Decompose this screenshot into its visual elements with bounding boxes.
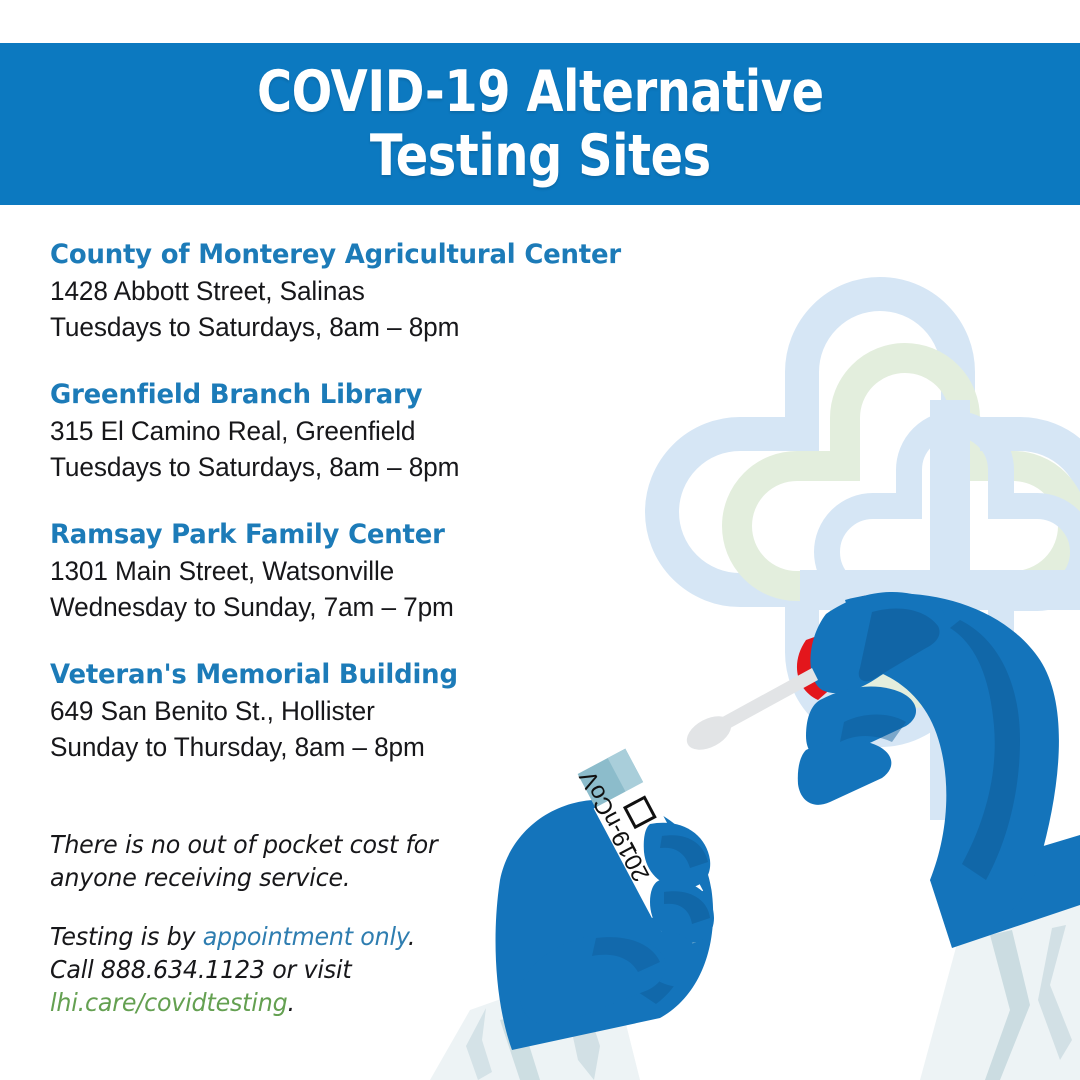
site-hours: Tuesdays to Saturdays, 8am – 8pm <box>50 309 690 345</box>
notes-section: There is no out of pocket cost for anyon… <box>50 828 570 1019</box>
site-address: 649 San Benito St., Hollister <box>50 693 690 729</box>
site-name: Ramsay Park Family Center <box>50 516 684 553</box>
list-item: Veteran's Memorial Building 649 San Beni… <box>50 656 710 765</box>
header-banner: COVID-19 Alternative Testing Sites <box>0 43 1080 205</box>
right-gloved-hand <box>681 592 1059 944</box>
poster-canvas: 2019-nCoV – + COVID-19 Alternative Testi… <box>0 0 1080 1080</box>
svg-text:+: + <box>643 885 671 908</box>
appointment-prefix: Testing is by <box>50 922 203 951</box>
site-name: Veteran's Memorial Building <box>50 656 684 693</box>
site-name: Greenfield Branch Library <box>50 376 684 413</box>
site-address: 315 El Camino Real, Greenfield <box>50 413 690 449</box>
site-address: 1301 Main Street, Watsonville <box>50 553 690 589</box>
testing-sites-list: County of Monterey Agricultural Center 1… <box>50 236 710 796</box>
list-item: Ramsay Park Family Center 1301 Main Stre… <box>50 516 710 625</box>
site-hours: Sunday to Thursday, 8am – 8pm <box>50 729 690 765</box>
right-arm <box>920 835 1080 1080</box>
site-address: 1428 Abbott Street, Salinas <box>50 273 690 309</box>
website-suffix: . <box>287 988 294 1017</box>
appointment-line: Testing is by appointment only. <box>50 920 544 953</box>
cost-note: There is no out of pocket cost for anyon… <box>50 828 570 894</box>
appointment-only-link[interactable]: appointment only <box>203 922 408 951</box>
site-hours: Tuesdays to Saturdays, 8am – 8pm <box>50 449 690 485</box>
list-item: County of Monterey Agricultural Center 1… <box>50 236 710 345</box>
medical-cross-watermark <box>662 294 1080 820</box>
cost-note-line-1: There is no out of pocket cost for <box>50 828 544 861</box>
website-link[interactable]: lhi.care/covidtesting <box>50 988 287 1017</box>
page-title: COVID-19 Alternative Testing Sites <box>257 60 824 188</box>
site-name: County of Monterey Agricultural Center <box>50 236 684 273</box>
site-hours: Wednesday to Sunday, 7am – 7pm <box>50 589 690 625</box>
svg-text:–: – <box>618 837 646 860</box>
website-line: lhi.care/covidtesting. <box>50 986 544 1019</box>
cost-note-line-2: anyone receiving service. <box>50 861 544 894</box>
phone-line[interactable]: Call 888.634.1123 or visit <box>50 953 544 986</box>
list-item: Greenfield Branch Library 315 El Camino … <box>50 376 710 485</box>
appointment-note: Testing is by appointment only. Call 888… <box>50 920 570 1019</box>
appointment-suffix: . <box>408 922 415 951</box>
